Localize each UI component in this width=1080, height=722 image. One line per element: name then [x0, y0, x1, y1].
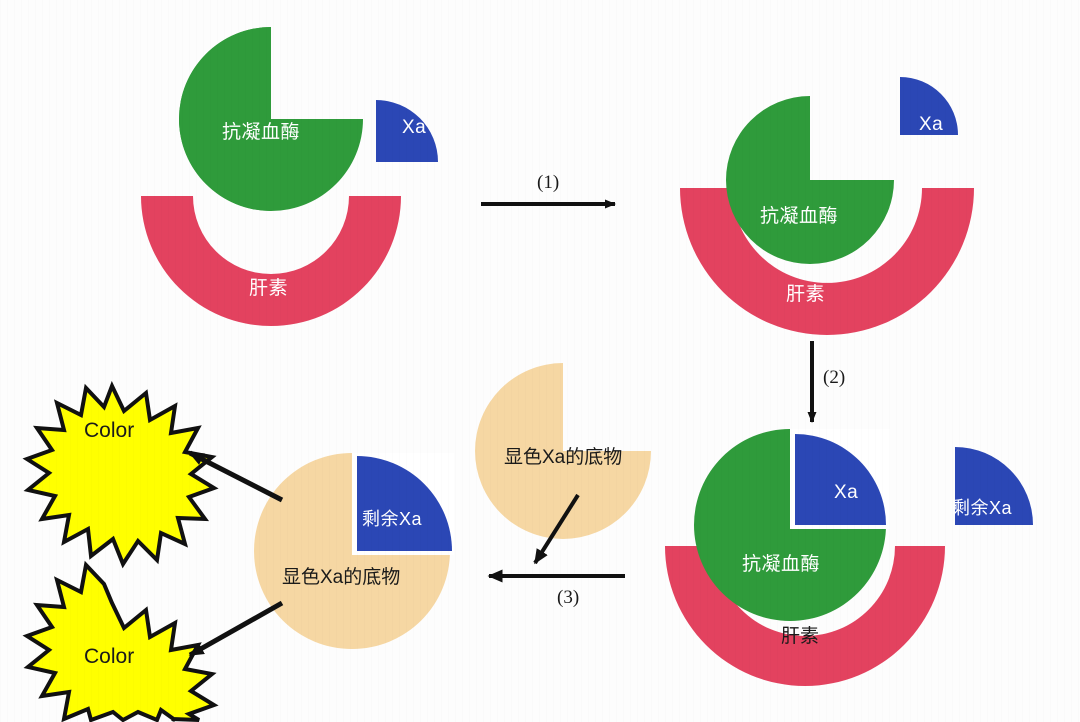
color-burst-bottom-shape — [27, 565, 214, 720]
group2-xa-label: Xa — [919, 114, 943, 136]
arrow-step2-label: (2) — [823, 367, 845, 389]
diagram-canvas: 抗凝血酶 Xa 肝素 (1) 抗凝血酶 Xa 肝素 (2) 抗凝血酶 Xa 肝素… — [0, 0, 1080, 722]
substrate-label: 显色Xa的底物 — [504, 442, 622, 469]
color-burst-top-label: Color — [84, 419, 134, 443]
group3-heparin-label: 肝素 — [781, 621, 819, 648]
arrow-step1-label: (1) — [537, 172, 559, 194]
group2-heparin-label: 肝素 — [786, 279, 825, 306]
color-burst-bottom-label: Color — [84, 645, 134, 669]
diagram-shapes-layer — [0, 0, 1080, 722]
product-substrate-label: 显色Xa的底物 — [282, 562, 400, 589]
arrow-product-to-color-bottom — [190, 603, 282, 655]
product-group — [254, 453, 454, 649]
product-residual-xa-label: 剩余Xa — [362, 505, 422, 531]
group3-xa-label: Xa — [834, 482, 858, 504]
group3-residual-xa-label: 剩余Xa — [952, 494, 1012, 520]
color-burst-bottom — [27, 565, 214, 720]
group3-bound-and-residual — [665, 429, 1033, 686]
group3-antithrombin-label: 抗凝血酶 — [742, 549, 820, 576]
group1-heparin-shape — [141, 196, 401, 326]
group2-antithrombin-shape — [726, 96, 894, 264]
color-burst-top — [27, 386, 214, 564]
group2-antithrombin-label: 抗凝血酶 — [760, 201, 838, 228]
group1-free-reactants — [141, 27, 438, 326]
color-burst-top-shape — [27, 386, 214, 564]
arrow-step3-label: (3) — [557, 587, 579, 609]
group1-xa-label: Xa — [402, 117, 426, 139]
group1-antithrombin-label: 抗凝血酶 — [222, 117, 300, 144]
group1-heparin-label: 肝素 — [249, 273, 288, 300]
